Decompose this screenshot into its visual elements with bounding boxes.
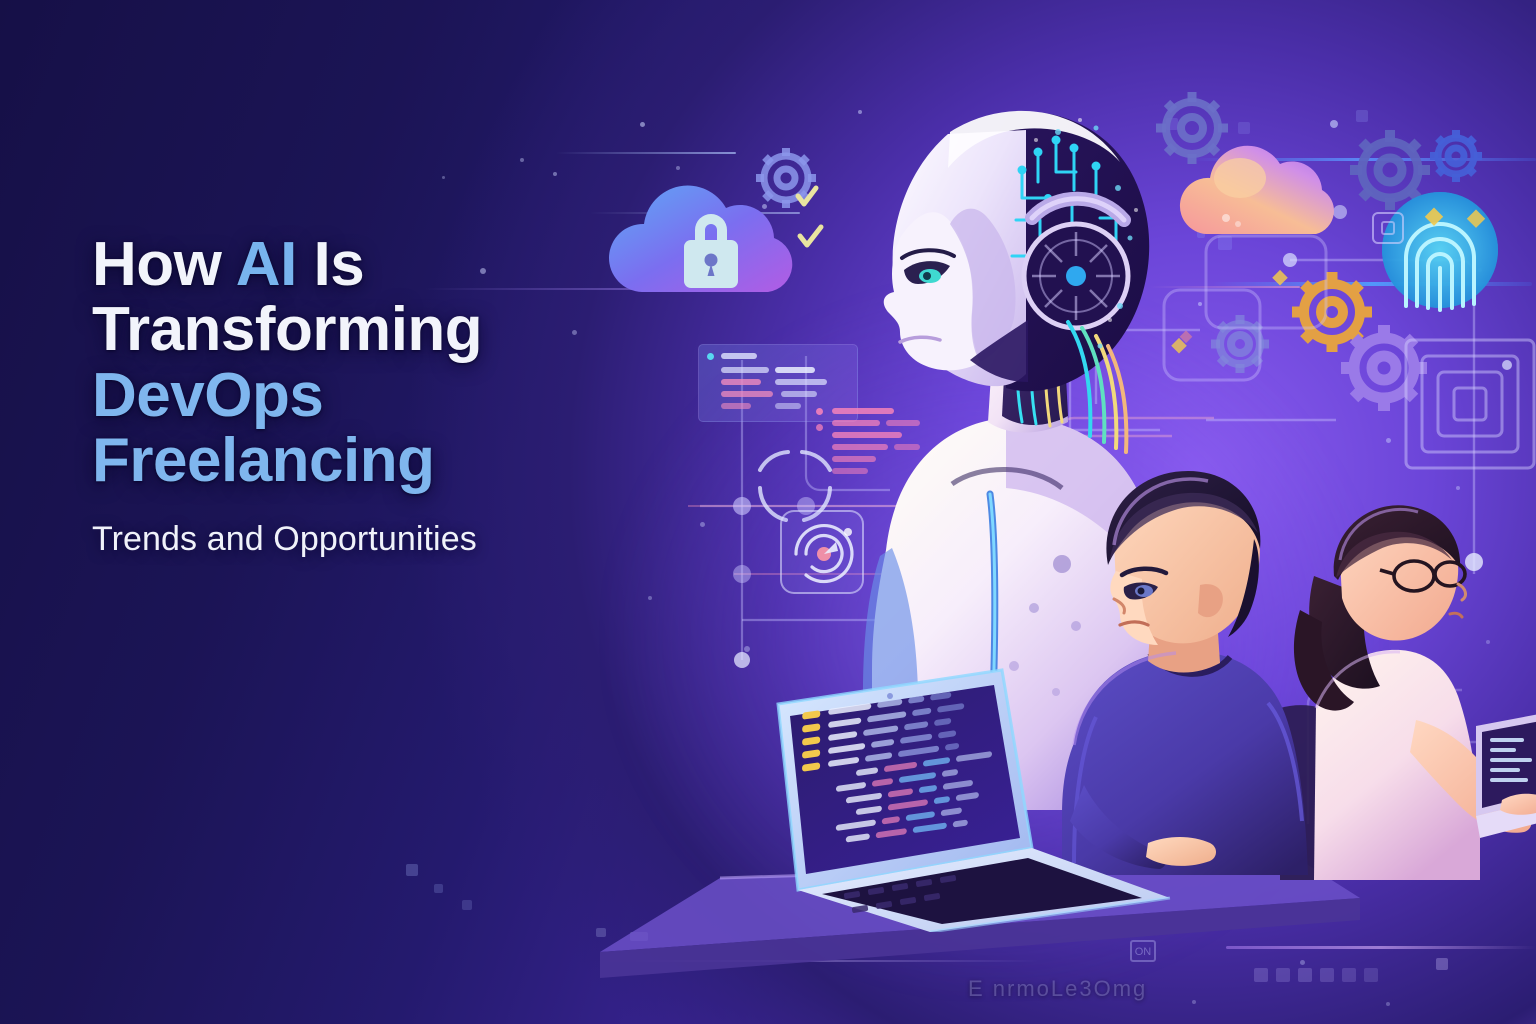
page-subtitle: Trends and Opportunities [92, 520, 732, 559]
code-token [900, 734, 932, 745]
code-token [912, 822, 947, 833]
laptop-code-lines [802, 683, 1013, 863]
code-token [871, 739, 893, 748]
code-token [882, 816, 901, 825]
code-token [875, 828, 906, 838]
code-token [888, 788, 913, 797]
title-line-1-part1: How [92, 230, 236, 299]
code-token-tag [802, 762, 820, 772]
code-token [919, 785, 938, 794]
code-token-tag [802, 736, 820, 746]
headline-block: How AI Is Transforming DevOps Freelancin… [92, 232, 732, 559]
gear-icon-small-top [1430, 130, 1482, 182]
title-line-2: Transforming [92, 295, 482, 364]
code-token [865, 752, 892, 762]
code-token [828, 743, 865, 754]
code-token-tag [802, 749, 820, 759]
code-token [863, 725, 899, 736]
code-token [872, 778, 893, 787]
concentric-square-frames [1406, 340, 1534, 468]
code-token-tag [802, 710, 820, 720]
open-laptop-with-code [752, 662, 1172, 932]
code-token [956, 751, 992, 762]
code-token [856, 806, 882, 816]
code-token [828, 717, 861, 728]
page-title: How AI Is Transforming DevOps Freelancin… [92, 232, 732, 494]
fingerprint-scanner-icon [1382, 192, 1498, 310]
code-token [923, 757, 950, 767]
code-token [836, 782, 866, 792]
code-token [937, 703, 964, 713]
code-token-tag [802, 723, 820, 733]
title-accent-ai: AI [236, 230, 297, 299]
code-token [888, 799, 928, 811]
title-line-3: DevOps [92, 361, 323, 430]
title-line-1-part2: Is [297, 230, 364, 299]
code-token [912, 708, 931, 717]
watermark-text: E nrmoLe3Omg [968, 976, 1147, 1002]
code-token [905, 721, 929, 730]
code-token [941, 807, 962, 816]
code-token [906, 811, 935, 821]
code-token [868, 711, 906, 722]
code-token [942, 769, 958, 777]
title-line-4: Freelancing [92, 426, 435, 495]
code-token [884, 762, 916, 773]
code-token [945, 743, 959, 751]
code-token [956, 792, 980, 801]
code-token [953, 819, 968, 827]
code-token [828, 757, 859, 767]
poster-canvas: E nrmoLe3Omg ON How AI Is Transforming D… [0, 0, 1536, 1024]
code-token [856, 767, 878, 776]
code-token [934, 796, 950, 804]
watermark-badge: ON [1130, 940, 1156, 962]
code-token [934, 718, 951, 726]
code-token [899, 772, 936, 783]
code-token [846, 833, 870, 842]
code-token [938, 730, 957, 739]
code-token [836, 819, 876, 831]
code-token [908, 696, 924, 704]
chip-icon [1372, 212, 1404, 244]
code-token [898, 745, 939, 757]
code-token [846, 793, 882, 804]
code-token [828, 731, 857, 741]
code-token [943, 780, 973, 790]
